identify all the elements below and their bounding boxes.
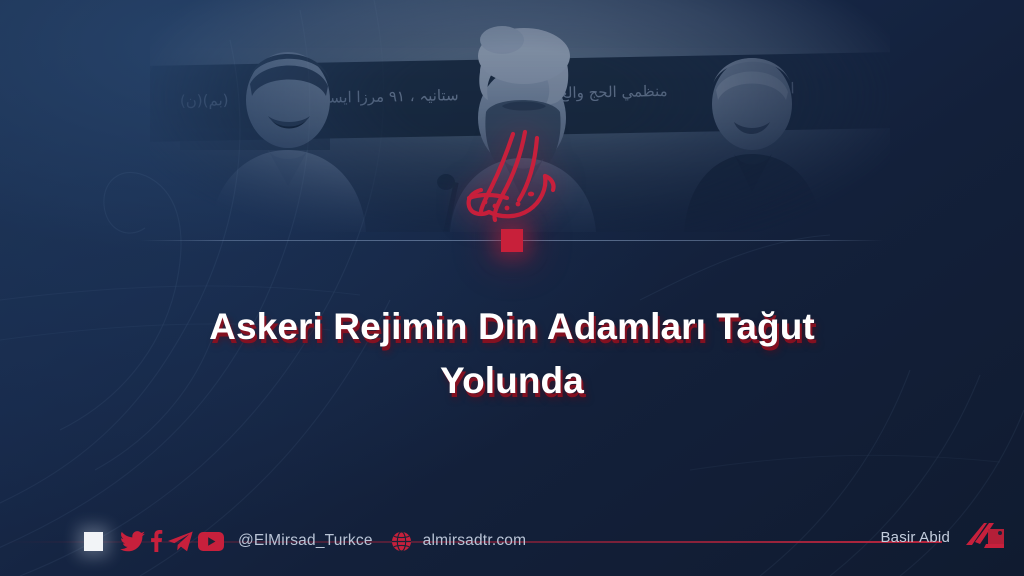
social-handle[interactable]: @ElMirsad_Turkce xyxy=(238,532,373,550)
headline-block: Askeri Rejimin Din Adamları Tağut Yolund… xyxy=(0,300,1024,409)
twitter-icon[interactable] xyxy=(120,531,145,552)
footer-author-block: Basir Abid xyxy=(880,520,1006,554)
page-title: Askeri Rejimin Din Adamları Tağut Yolund… xyxy=(90,300,934,409)
white-square-marker-icon xyxy=(84,532,103,551)
website-url[interactable]: almirsadtr.com xyxy=(423,532,527,550)
news-graphic-slide: (ن)(ب‍م) ستانیہ ، ۹۱ مرزا ایسری منظمي ال… xyxy=(0,0,1024,576)
social-icon-group xyxy=(120,530,224,552)
footer-social-bar: @ElMirsad_Turkce almirsadtr.com xyxy=(84,530,526,552)
author-name: Basir Abid xyxy=(880,529,950,546)
red-accent-square xyxy=(501,229,523,252)
footer: @ElMirsad_Turkce almirsadtr.com Basir Ab… xyxy=(0,498,1024,576)
el-mirsad-flag-mark-icon xyxy=(962,520,1006,554)
telegram-icon[interactable] xyxy=(168,531,193,552)
youtube-icon[interactable] xyxy=(198,532,224,551)
brand-logo xyxy=(455,128,573,228)
globe-icon xyxy=(391,531,412,552)
facebook-icon[interactable] xyxy=(150,530,163,552)
